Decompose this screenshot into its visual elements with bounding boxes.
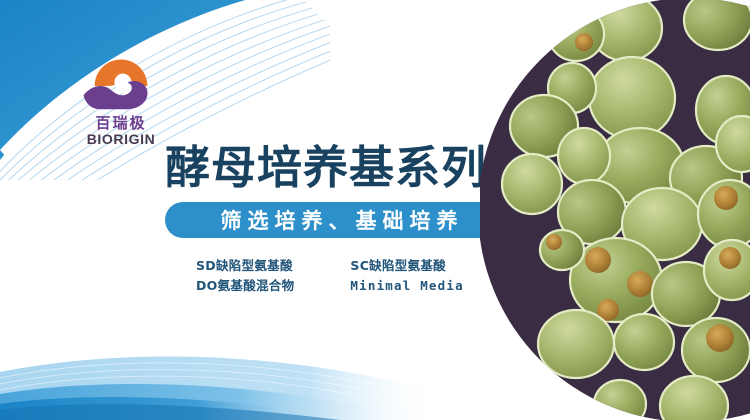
product-column-left: SD缺陷型氨基酸 DO氨基酸混合物 [196,256,294,296]
brand-logo: 百瑞极 BIORIGIN [66,52,176,147]
subtitle-badge: 筛选培养、基础培养 [165,202,513,238]
bottom-left-waves [0,357,440,420]
product-item: SC缺陷型氨基酸 [350,256,463,276]
product-item: SD缺陷型氨基酸 [196,256,294,276]
brand-name-en: BIORIGIN [66,131,176,147]
yeast-cells-micrograph [480,0,750,420]
promo-banner: 百瑞极 BIORIGIN 酵母培养基系列 筛选培养、基础培养 SD缺陷型氨基酸 … [0,0,750,420]
product-item: DO氨基酸混合物 [196,276,294,296]
product-column-right: SC缺陷型氨基酸 Minimal Media [350,256,463,296]
brand-name-cn: 百瑞极 [66,115,176,131]
subtitle-label: 筛选培养、基础培养 [215,205,464,235]
biorigin-logo-icon [76,52,166,114]
product-item: Minimal Media [350,276,463,296]
product-list: SD缺陷型氨基酸 DO氨基酸混合物 SC缺陷型氨基酸 Minimal Media [196,256,464,296]
